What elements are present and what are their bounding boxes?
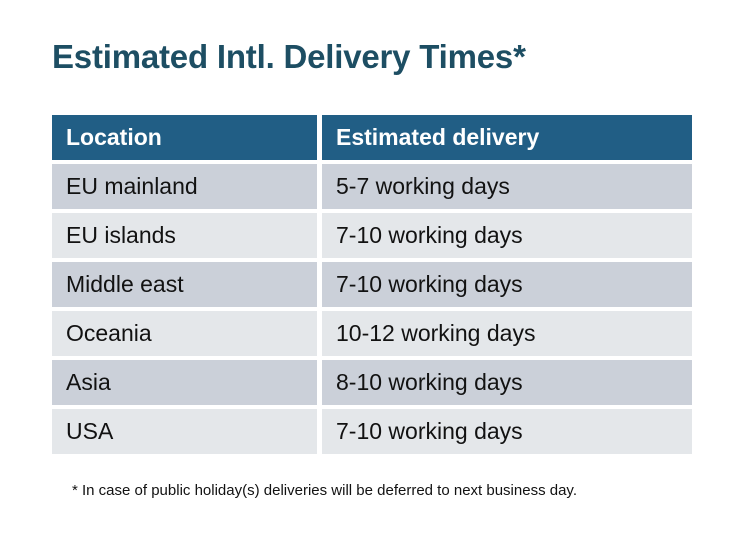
cell-estimated-delivery: 10-12 working days xyxy=(322,311,692,356)
table-row: EU islands 7-10 working days xyxy=(52,213,692,258)
column-header-location: Location xyxy=(52,115,317,160)
cell-estimated-delivery: 7-10 working days xyxy=(322,262,692,307)
cell-location: EU islands xyxy=(52,213,317,258)
table-row: Oceania 10-12 working days xyxy=(52,311,692,356)
table-row: USA 7-10 working days xyxy=(52,409,692,454)
delivery-times-page: Estimated Intl. Delivery Times* Location… xyxy=(0,0,745,536)
table-row: EU mainland 5-7 working days xyxy=(52,164,692,209)
footnote-public-holiday-note: * In case of public holiday(s) deliverie… xyxy=(72,481,577,501)
cell-estimated-delivery: 8-10 working days xyxy=(322,360,692,405)
cell-location: Asia xyxy=(52,360,317,405)
table-header-row: Location Estimated delivery xyxy=(52,115,692,160)
cell-location: EU mainland xyxy=(52,164,317,209)
estimated-delivery-times-table: Location Estimated delivery EU mainland … xyxy=(52,115,692,454)
table-row: Asia 8-10 working days xyxy=(52,360,692,405)
page-title: Estimated Intl. Delivery Times* xyxy=(52,36,526,78)
cell-location: Oceania xyxy=(52,311,317,356)
column-header-estimated-delivery: Estimated delivery xyxy=(322,115,692,160)
cell-estimated-delivery: 5-7 working days xyxy=(322,164,692,209)
cell-location: USA xyxy=(52,409,317,454)
table-row: Middle east 7-10 working days xyxy=(52,262,692,307)
cell-location: Middle east xyxy=(52,262,317,307)
cell-estimated-delivery: 7-10 working days xyxy=(322,409,692,454)
cell-estimated-delivery: 7-10 working days xyxy=(322,213,692,258)
